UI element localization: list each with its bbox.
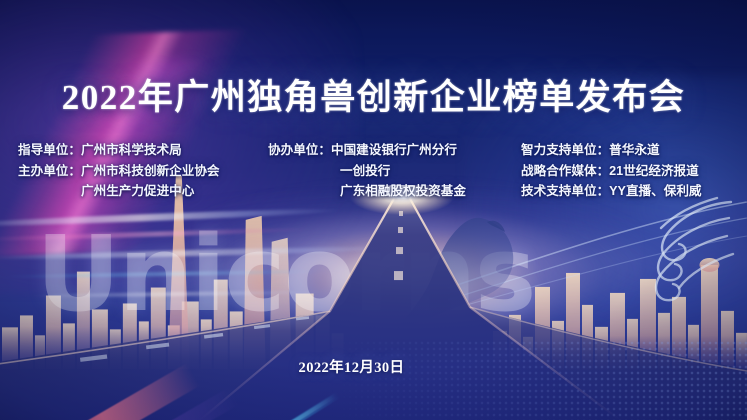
info-value: 中国建设银行广州分行 <box>331 143 457 157</box>
info-value: 普华永道 <box>609 143 659 157</box>
info-line: 技术支持单位：YY直播、保利威 <box>521 181 702 202</box>
event-poster: Unicorns <box>0 0 747 420</box>
info-line: 一创投行 <box>268 161 466 182</box>
info-value: 广州生产力促进中心 <box>81 184 194 198</box>
info-value: 21世纪经济报道 <box>609 164 699 178</box>
info-value: 广东相融股权投资基金 <box>340 184 466 198</box>
event-date: 2022年12月30日 <box>0 356 747 377</box>
sponsor-info-row: 指导单位：广州市科学技术局 主办单位：广州市科技创新企业协会 广州生产力促进中心… <box>0 140 747 210</box>
info-label: 指导单位： <box>18 143 81 157</box>
column-co-organizers: 协办单位：中国建设银行广州分行 一创投行 广东相融股权投资基金 <box>268 140 466 202</box>
info-line: 广东相融股权投资基金 <box>268 181 466 202</box>
column-support: 智力支持单位：普华永道 战略合作媒体：21世纪经济报道 技术支持单位：YY直播、… <box>521 140 702 202</box>
info-value: YY直播、保利威 <box>609 184 701 198</box>
info-label: 协办单位： <box>268 143 331 157</box>
column-organizers: 指导单位：广州市科学技术局 主办单位：广州市科技创新企业协会 广州生产力促进中心 <box>18 140 220 202</box>
road-perspective <box>0 185 747 420</box>
info-line: 智力支持单位：普华永道 <box>521 140 702 161</box>
info-line: 主办单位：广州市科技创新企业协会 <box>18 161 220 182</box>
info-value: 广州市科学技术局 <box>81 143 182 157</box>
info-label: 技术支持单位： <box>521 184 609 198</box>
info-value: 广州市科技创新企业协会 <box>81 164 220 178</box>
info-line: 指导单位：广州市科学技术局 <box>18 140 220 161</box>
info-line: 广州生产力促进中心 <box>18 181 220 202</box>
info-label: 战略合作媒体： <box>521 164 609 178</box>
info-label: 智力支持单位： <box>521 143 609 157</box>
page-title: 2022年广州独角兽创新企业榜单发布会 <box>0 69 747 120</box>
info-line: 战略合作媒体：21世纪经济报道 <box>521 161 702 182</box>
info-line: 协办单位：中国建设银行广州分行 <box>268 140 466 161</box>
halftone-dot-texture <box>329 340 747 420</box>
info-label: 主办单位： <box>18 164 81 178</box>
info-value: 一创投行 <box>340 164 390 178</box>
